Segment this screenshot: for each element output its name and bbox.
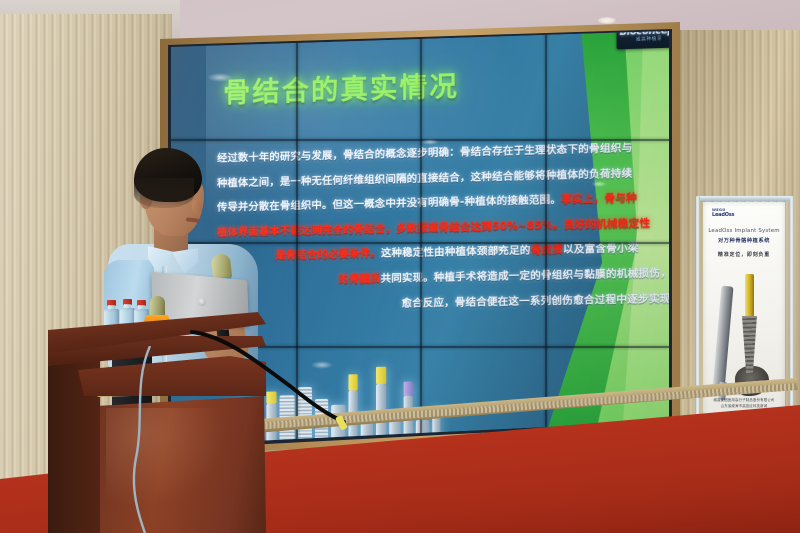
implant-driver-tool [712, 286, 733, 391]
implant-abutment-cap [348, 374, 357, 390]
speaker-nose [192, 200, 202, 213]
slide-brand-logo: Bioconcept 威高种植牙 [617, 31, 669, 49]
slide-text-highlight: 是骨结合的必要条件。 [275, 249, 380, 262]
podium-highlight [106, 408, 226, 508]
banner-footer-line1: 威高集团医用高分子制品股份有限公司 [703, 397, 785, 402]
slide-text-plain: 以及富含骨小梁 [563, 244, 639, 257]
slide-text-plain: 种植体之间，是一种无任何纤维组织间隔的直接结合，这种结合能够将种植体的负荷持续 [217, 168, 632, 189]
implant-abutment-cap [266, 391, 276, 403]
banner-subheading-cn: 精准定位，即刻负重 [703, 251, 785, 258]
banner-heading-cn: 对万种骨骼种植系统 [703, 237, 785, 244]
banner-top-rail [696, 196, 792, 201]
slide-text-plain: 愈合反应，骨结合便在这一系列创伤愈合过程中逐步实现。 [402, 293, 669, 309]
podium-neck [78, 356, 266, 396]
slide-body-text: 经过数十年的研究与发展，骨结合的概念逐步明确：骨结合存在于生理状态下的骨组织与种… [217, 137, 640, 321]
slide-text-highlight: 骨皮质 [531, 245, 563, 257]
laptop-logo-icon [198, 298, 206, 306]
speaker-hair-fade [134, 178, 194, 208]
implant-abutment-cap [376, 367, 386, 384]
podium [48, 312, 266, 533]
implant-component [376, 367, 386, 443]
slide-text-highlight: 植体界面基本不能达到完全的骨结合，多数报道骨结合达到50%~85%。良好的机械稳… [217, 218, 650, 238]
implant-abutment-cap [404, 382, 413, 396]
banner-left-pole [696, 196, 700, 446]
slide-text-highlight: 的骨髓质 [338, 274, 380, 286]
slide-text-highlight: 事实上，骨与种 [561, 193, 637, 206]
slide-text-plain: 这种稳定性由种植体颈部充足的 [381, 246, 531, 260]
banner-logo-line2: LeadOss [712, 212, 734, 218]
banner-print-surface: WEGO LeadOss LeadOss Implant System 对万种骨… [703, 202, 785, 436]
banner-implant-photo [711, 270, 777, 395]
banner-logo: WEGO LeadOss [712, 208, 734, 218]
ceiling-downlight-icon [598, 17, 616, 24]
implant-abutment [745, 274, 754, 318]
implant-component [266, 391, 276, 443]
slide-text-plain: 经过数十年的研究与发展，骨结合的概念逐步明确：骨结合存在于生理状态下的骨组织与 [217, 143, 632, 165]
implant-component [348, 374, 357, 443]
banner-heading-en: LeadOss Implant System [703, 228, 785, 234]
brand-subtitle: 威高种植牙 [636, 37, 662, 44]
photo-scene: 骨结合的真实情况 经过数十年的研究与发展，骨结合的概念逐步明确：骨结合存在于生理… [0, 0, 800, 533]
slide-title: 骨结合的真实情况 [223, 64, 459, 110]
slide-text-plain: 共同实现。种植手术将造成一定的骨组织与黏膜的机械损伤，从而引发创伤 [381, 267, 669, 285]
banner-footer-line2: 山东省威海市高技区科技新城 [703, 403, 785, 408]
